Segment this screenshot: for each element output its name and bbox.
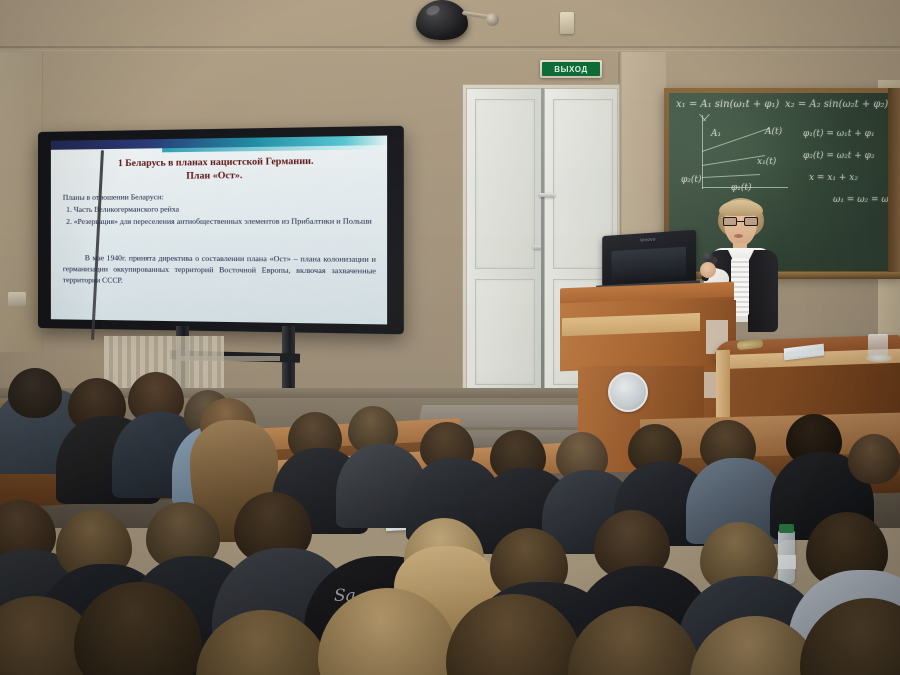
student-head (848, 434, 900, 484)
exit-sign-inner: ВЫХОД (542, 62, 600, 76)
chalk-equation-3: φ₁(t) = ω₁t + φ₁ (803, 129, 875, 139)
slide-list-item: «Резервация» для переселения антиобществ… (74, 216, 376, 227)
door-panel-upper-left (475, 99, 535, 269)
chalk-equation-5: x = x₁ + x₂ (809, 173, 858, 183)
eyeglass-lens-right (744, 217, 758, 226)
slide-title-line-2: План «Ост». (61, 168, 376, 184)
slide-paragraph: В мае 1940г. принята директива о составл… (63, 253, 376, 289)
door-handle-right[interactable] (539, 193, 555, 197)
wall-seam (0, 46, 900, 48)
eyeglasses-icon (723, 217, 758, 226)
presenter-hair-fringe (719, 200, 763, 216)
presenter-vest-right (748, 250, 778, 332)
chalk-equation-6: ω₁ = ω₂ = ω (833, 195, 889, 205)
laptop-brand-label: lenovo (602, 234, 696, 245)
laptop-screen (612, 247, 686, 281)
chalk-vector-a1 (702, 155, 765, 166)
presenter-mouth (734, 234, 743, 238)
lecture-hall-photo: ВЫХОД x₁ = A₁ sin(ω₁t + φ₁) x₂ = A₂ sin(… (0, 0, 900, 675)
eyeglass-lens-left (723, 217, 737, 226)
chalk-vector-a2 (702, 174, 760, 178)
door-leaf-left[interactable] (466, 88, 542, 400)
exit-sign-label: ВЫХОД (554, 65, 588, 74)
laptop[interactable]: lenovo (602, 230, 696, 289)
slide-lead-text: Планы в отношении Беларуси: (63, 191, 376, 204)
chalk-label-phi2: φ₂(t) (681, 175, 702, 185)
slide-title: 1 Беларусь в планах нацистской Германии.… (61, 155, 376, 185)
chalk-equation-4: φ₂(t) = ω₂t + φ₂ (803, 151, 875, 161)
presenter-hand (700, 262, 716, 278)
chalk-arrow-head-right (703, 114, 710, 121)
chalk-equation-2: x₂ = A₂ sin(ω₂t + φ₂) (785, 99, 888, 110)
wall-left-panel (0, 52, 43, 352)
audience: Sa (0, 360, 900, 675)
chalk-label-x1-t: x₁(t) (757, 157, 776, 167)
chalk-equation-1: x₁ = A₁ sin(ω₁t + φ₁) (676, 99, 779, 110)
wall-outlet (8, 292, 26, 306)
student-head (8, 368, 62, 418)
slide-list: Часть Великогерманского рейха «Резерваци… (63, 204, 376, 227)
slide-body: Планы в отношении Беларуси: Часть Велико… (63, 191, 376, 229)
wall-socket (560, 12, 574, 34)
camera-mount-plate (486, 13, 499, 26)
eyeglass-bridge (737, 221, 744, 222)
microphone-head (703, 252, 713, 262)
security-camera-icon (416, 0, 468, 40)
slide-list-item: Часть Великогерманского рейха (74, 204, 376, 216)
blackboard-right-edge (888, 88, 900, 276)
chalk-label-a1: A₁ (711, 129, 721, 139)
water-bottle-cap (779, 524, 794, 533)
chalk-axis-horizontal (702, 187, 788, 188)
exit-sign: ВЫХОД (540, 60, 602, 78)
water-bottle-label (777, 555, 796, 569)
wall-seam-highlight (0, 50, 900, 51)
